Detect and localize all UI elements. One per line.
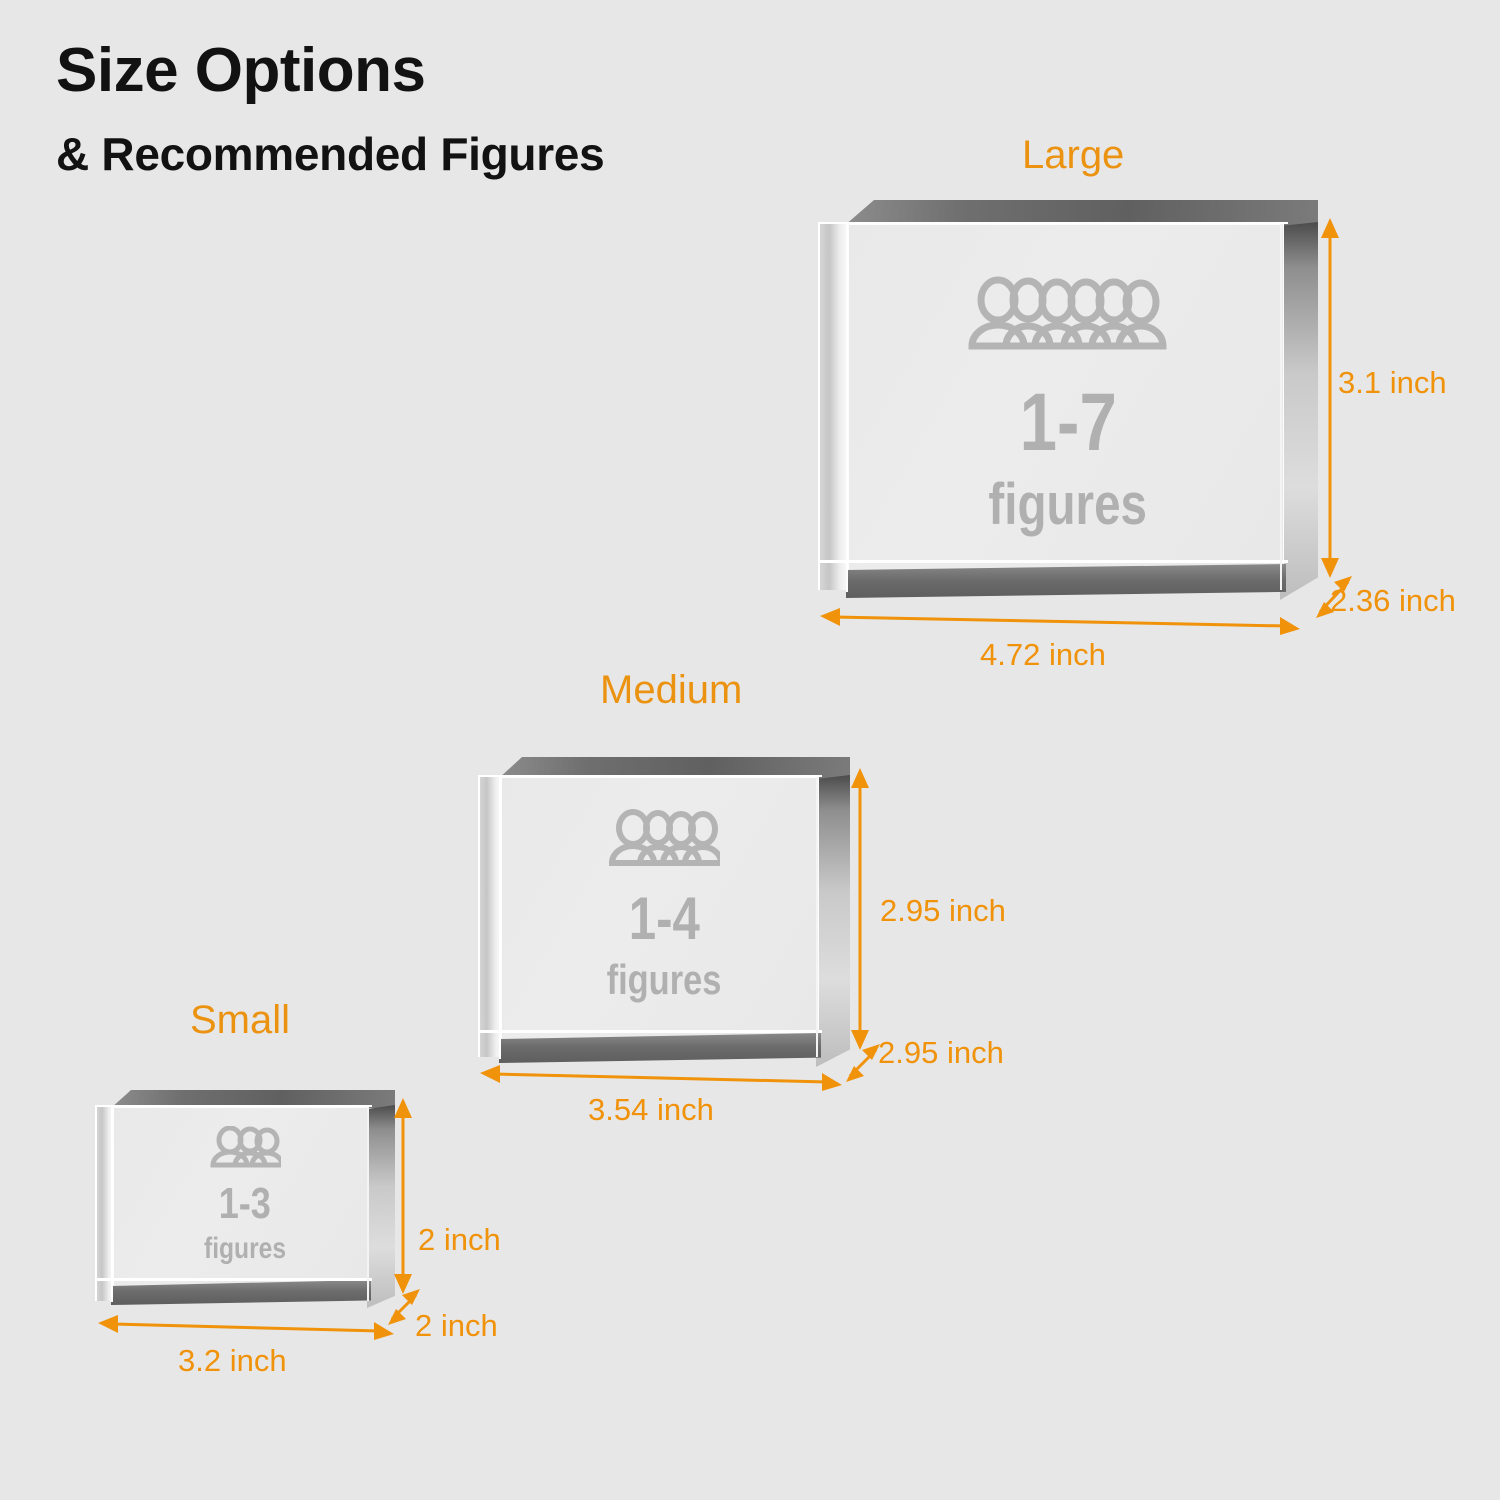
figures-word-small: figures <box>204 1234 286 1264</box>
people-group-icon <box>608 809 720 867</box>
figures-range-medium: 1-4 <box>628 889 699 949</box>
crystal-block-small: 1-3 figures <box>95 1090 395 1308</box>
crystal-block-large: 1-7 figures <box>818 200 1318 600</box>
dimension-arrow-medium-width <box>480 1062 842 1088</box>
dimension-arrow-medium-height <box>840 768 880 1050</box>
block-highlight-top <box>95 1105 372 1107</box>
block-highlight-bottom <box>478 1030 822 1033</box>
crystal-block-medium: 1-4 figures <box>478 757 850 1067</box>
block-highlight-top <box>818 222 1288 224</box>
infographic-canvas: Size Options & Recommended Figures Large <box>0 0 1500 1500</box>
figures-word-large: figures <box>989 476 1148 534</box>
figures-word-medium: figures <box>607 959 722 1001</box>
heading-group: Size Options & Recommended Figures <box>56 38 604 180</box>
dimension-label-large-depth: 2.36 inch <box>1330 583 1456 619</box>
dimension-label-medium-depth: 2.95 inch <box>878 1035 1004 1071</box>
dimension-label-small-depth: 2 inch <box>415 1308 498 1344</box>
figures-range-large: 1-7 <box>1019 382 1116 464</box>
size-label-medium: Medium <box>600 668 742 713</box>
dimension-arrow-small-height <box>383 1098 423 1294</box>
page-subtitle: & Recommended Figures <box>56 129 604 180</box>
figures-range-small: 1-3 <box>219 1182 271 1226</box>
dimension-arrow-small-width <box>98 1312 394 1338</box>
engraving-medium: 1-4 figures <box>478 809 850 1001</box>
dimension-label-small-width: 3.2 inch <box>178 1343 287 1379</box>
engraving-large: 1-7 figures <box>818 276 1318 534</box>
block-highlight-bottom <box>95 1278 372 1281</box>
dimension-label-small-height: 2 inch <box>418 1222 501 1258</box>
people-group-icon <box>968 276 1168 352</box>
engraving-small: 1-3 figures <box>95 1126 395 1264</box>
block-highlight-bottom <box>818 560 1288 563</box>
dimension-label-medium-height: 2.95 inch <box>880 893 1006 929</box>
block-highlight-top <box>478 775 822 777</box>
dimension-label-large-height: 3.1 inch <box>1338 365 1447 401</box>
dimension-label-large-width: 4.72 inch <box>980 637 1106 673</box>
size-label-large: Large <box>1022 133 1124 178</box>
dimension-label-medium-width: 3.54 inch <box>588 1092 714 1128</box>
size-label-small: Small <box>190 998 290 1043</box>
page-title: Size Options <box>56 38 604 103</box>
people-group-icon <box>209 1126 281 1168</box>
dimension-arrow-large-width <box>820 605 1300 631</box>
